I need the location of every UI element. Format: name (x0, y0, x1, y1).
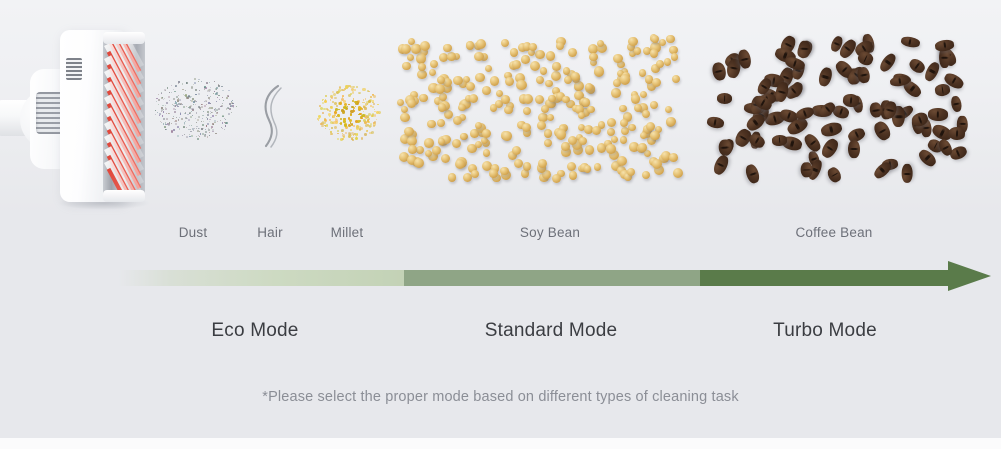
vacuum-vent-icon (66, 58, 82, 80)
millet-grains-icon (313, 80, 383, 146)
caption-millet: Millet (297, 225, 397, 240)
hair-strand-svg (252, 80, 294, 150)
vacuum-roller-brush (103, 36, 145, 198)
soy-bean-icon (396, 34, 686, 186)
dust-particles-icon (152, 72, 238, 144)
coffee-bean-icon (700, 34, 980, 186)
vacuum-roller-cap-top (103, 32, 145, 44)
power-segment-eco (118, 270, 404, 286)
mode-label-turbo: Turbo Mode (725, 320, 925, 342)
mode-label-standard: Standard Mode (431, 320, 671, 342)
power-scale-bar (0, 268, 1001, 290)
footnote-text: *Please select the proper mode based on … (0, 389, 1001, 405)
power-mode-infographic: Dust Hair Millet Soy Bean Coffee Bean Ec… (0, 0, 1001, 449)
arrow-right-icon (948, 261, 991, 291)
caption-coffee-bean: Coffee Bean (754, 225, 914, 240)
power-segment-standard (404, 270, 700, 286)
caption-soy-bean: Soy Bean (470, 225, 630, 240)
hair-strand-icon (252, 80, 294, 150)
power-segment-turbo (700, 270, 950, 286)
bottom-edge-strip (0, 438, 1001, 449)
vacuum-roller-cap-bottom (103, 190, 145, 202)
mode-label-eco: Eco Mode (155, 320, 355, 342)
vacuum-brush-head-illustration (0, 14, 150, 204)
